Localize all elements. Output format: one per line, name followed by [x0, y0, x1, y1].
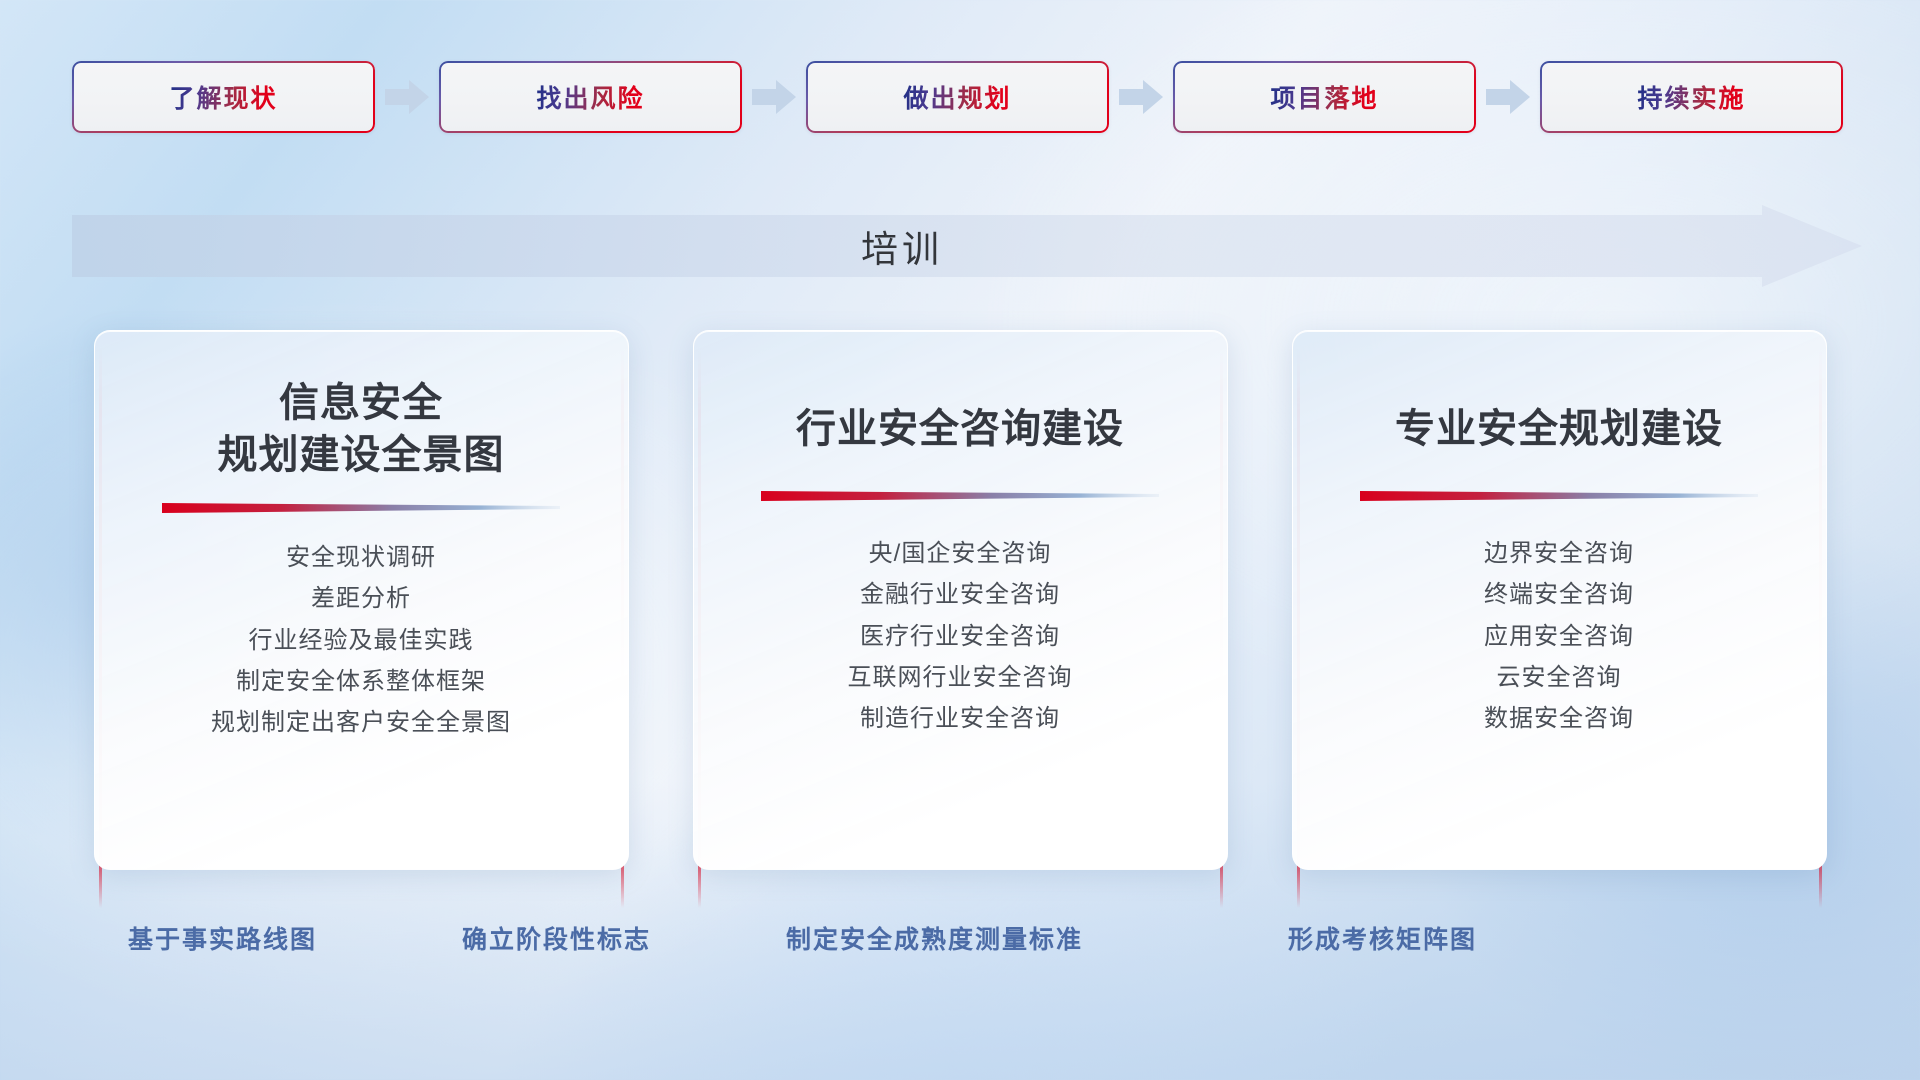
list-item: 制造行业安全咨询 — [728, 698, 1193, 739]
list-item: 医疗行业安全咨询 — [728, 616, 1193, 657]
footer-label: 基于事实路线图 — [128, 920, 317, 956]
stage-label: 项目落地 — [1270, 79, 1378, 115]
list-item: 应用安全咨询 — [1327, 616, 1792, 657]
list-item: 终端安全咨询 — [1327, 574, 1792, 615]
footer-label: 确立阶段性标志 — [462, 920, 651, 956]
footer-label: 形成考核矩阵图 — [1288, 920, 1477, 956]
card-item-list: 边界安全咨询 终端安全咨询 应用安全咨询 云安全咨询 数据安全咨询 — [1327, 533, 1792, 739]
capability-card[interactable]: 信息安全 规划建设全景图 安全现状调研 — [94, 330, 629, 870]
list-item: 行业经验及最佳实践 — [129, 620, 594, 661]
stage-label: 持续实施 — [1637, 79, 1745, 115]
list-item: 数据安全咨询 — [1327, 698, 1792, 739]
list-item: 互联网行业安全咨询 — [728, 657, 1193, 698]
list-item: 边界安全咨询 — [1327, 533, 1792, 574]
footer-label-row: 基于事实路线图 确立阶段性标志 制定安全成熟度测量标准 形成考核矩阵图 — [0, 920, 1920, 980]
card-item-list: 央/国企安全咨询 金融行业安全咨询 医疗行业安全咨询 互联网行业安全咨询 制造行… — [728, 533, 1193, 739]
stage-box-1[interactable]: 了解现状 — [72, 61, 375, 133]
card-item-list: 安全现状调研 差距分析 行业经验及最佳实践 制定安全体系整体框架 规划制定出客户… — [129, 537, 594, 743]
stage-label: 找出风险 — [536, 79, 644, 115]
card-title: 行业安全咨询建设 — [796, 403, 1124, 455]
card-title: 专业安全规划建设 — [1395, 403, 1723, 455]
stage-label: 做出规划 — [903, 79, 1011, 115]
card-accent-rule — [1360, 489, 1758, 503]
stage-box-4[interactable]: 项目落地 — [1173, 61, 1476, 133]
stage-box-3[interactable]: 做出规划 — [806, 61, 1109, 133]
list-item: 制定安全体系整体框架 — [129, 661, 594, 702]
list-item: 云安全咨询 — [1327, 657, 1792, 698]
list-item: 央/国企安全咨询 — [728, 533, 1193, 574]
card-accent-rule — [162, 501, 560, 515]
capability-card[interactable]: 专业安全规划建设 边界安全咨询 — [1292, 330, 1827, 870]
card-accent-rule — [761, 489, 1159, 503]
list-item: 差距分析 — [129, 578, 594, 619]
stage-box-2[interactable]: 找出风险 — [439, 61, 742, 133]
footer-label: 制定安全成熟度测量标准 — [786, 920, 1083, 956]
stage-box-5[interactable]: 持续实施 — [1540, 61, 1843, 133]
chevron-right-arrow-icon — [1119, 80, 1163, 114]
card-title: 信息安全 规划建设全景图 — [218, 377, 505, 481]
chevron-right-arrow-icon — [1486, 80, 1530, 114]
chevron-right-arrow-icon — [385, 80, 429, 114]
stage-label: 了解现状 — [169, 79, 277, 115]
list-item: 安全现状调研 — [129, 537, 594, 578]
process-stage-row: 了解现状 找出风险 做出规划 项目落地 持续实施 — [0, 58, 1920, 136]
training-banner: 培训 — [72, 205, 1862, 287]
banner-title: 培训 — [72, 205, 1862, 287]
chevron-right-arrow-icon — [752, 80, 796, 114]
card-wrapper-3: 专业安全规划建设 边界安全咨询 — [1292, 330, 1827, 890]
card-wrapper-1: 信息安全 规划建设全景图 安全现状调研 — [94, 330, 629, 890]
card-wrapper-2: 行业安全咨询建设 央/国企安全咨询 — [693, 330, 1228, 890]
capability-card-group: 信息安全 规划建设全景图 安全现状调研 — [0, 330, 1920, 890]
list-item: 规划制定出客户安全全景图 — [129, 702, 594, 743]
list-item: 金融行业安全咨询 — [728, 574, 1193, 615]
capability-card[interactable]: 行业安全咨询建设 央/国企安全咨询 — [693, 330, 1228, 870]
